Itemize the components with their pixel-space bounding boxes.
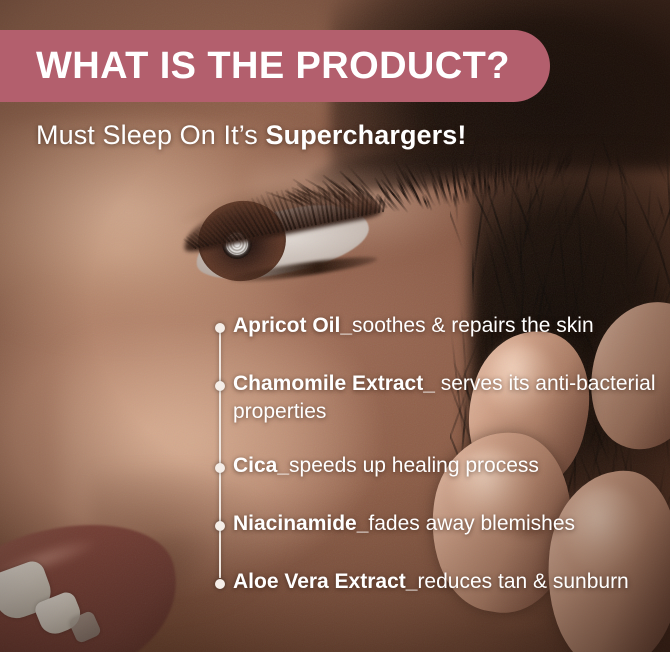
bullet-dot-icon [215,323,225,333]
ingredient-benefit: speeds up healing process [289,454,539,477]
list-item: Niacinamide_fades away blemishes [213,510,663,542]
ingredient-name: Apricot Oil_ [233,314,352,337]
knuckle-crease-2 [470,612,550,634]
bullet-dot-icon [215,521,225,531]
bullet-dot-icon [215,579,225,589]
product-ingredients-poster: WHAT IS THE PRODUCT? Must Sleep On It’s … [0,0,670,652]
list-item: Chamomile Extract_ serves its anti-bacte… [213,370,663,426]
ingredient-text: Chamomile Extract_ serves its anti-bacte… [233,370,661,426]
subtitle-lead: Must Sleep On It’s [36,120,266,150]
subtitle-emphasis: Superchargers! [266,120,467,150]
ingredient-name: Aloe Vera Extract_ [233,570,417,593]
page-title: WHAT IS THE PRODUCT? [36,47,510,85]
list-item: Apricot Oil_soothes & repairs the skin [213,312,663,344]
bullet-dot-icon [215,381,225,391]
ingredient-text: Apricot Oil_soothes & repairs the skin [233,312,594,340]
bullet-dot-icon [215,463,225,473]
ingredients-list: Apricot Oil_soothes & repairs the skin C… [213,312,663,600]
list-item: Cica_speeds up healing process [213,452,663,484]
ingredient-benefit: reduces tan & sunburn [417,570,628,593]
ingredient-name: Niacinamide_ [233,512,368,535]
ingredient-benefit: soothes & repairs the skin [352,314,594,337]
ingredient-text: Niacinamide_fades away blemishes [233,510,575,538]
subtitle: Must Sleep On It’s Superchargers! [36,119,467,151]
ingredient-name: Cica_ [233,454,289,477]
ingredient-name: Chamomile Extract_ [233,372,435,395]
ingredient-benefit: fades away blemishes [368,512,575,535]
ingredient-text: Aloe Vera Extract_reduces tan & sunburn [233,568,629,596]
list-item: Aloe Vera Extract_reduces tan & sunburn [213,568,663,600]
eye [170,185,390,305]
header-banner: WHAT IS THE PRODUCT? [0,30,550,102]
ingredient-text: Cica_speeds up healing process [233,452,539,480]
